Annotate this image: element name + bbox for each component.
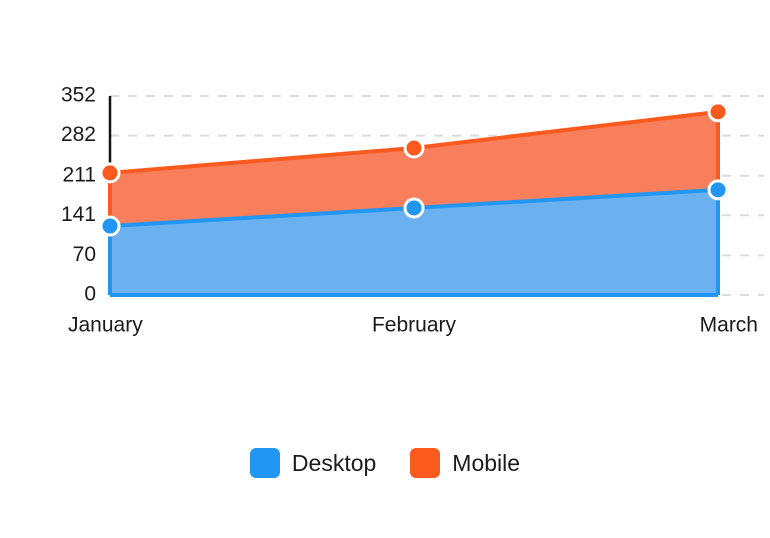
plot-area: 070141211282352 JanuaryFebruaryMarch (0, 0, 770, 430)
legend-swatch-icon (410, 448, 440, 478)
data-point-mobile-january[interactable] (101, 164, 119, 182)
legend-label: Desktop (292, 452, 376, 475)
x-tick-label: March (700, 314, 758, 337)
chart-canvas: 070141211282352 JanuaryFebruaryMarch (0, 0, 770, 430)
data-point-desktop-february[interactable] (405, 199, 423, 217)
y-tick-label: 141 (61, 203, 96, 226)
y-tick-label: 352 (61, 84, 96, 107)
data-point-mobile-march[interactable] (709, 103, 727, 121)
data-point-desktop-march[interactable] (709, 181, 727, 199)
y-tick-label: 211 (63, 163, 96, 186)
x-tick-label: January (68, 314, 143, 337)
y-axis-tick-labels: 070141211282352 (61, 84, 96, 306)
y-tick-label: 70 (73, 243, 96, 266)
legend-swatch-icon (250, 448, 280, 478)
data-point-desktop-january[interactable] (101, 217, 119, 235)
area-chart: 070141211282352 JanuaryFebruaryMarch Des… (0, 0, 770, 538)
data-point-mobile-february[interactable] (405, 139, 423, 157)
legend-item-mobile[interactable]: Mobile (410, 448, 520, 478)
y-tick-label: 0 (84, 283, 96, 306)
chart-legend: DesktopMobile (0, 448, 770, 478)
legend-label: Mobile (452, 452, 520, 475)
legend-item-desktop[interactable]: Desktop (250, 448, 376, 478)
y-tick-label: 282 (61, 123, 96, 146)
x-tick-label: February (372, 314, 457, 337)
x-axis-tick-labels: JanuaryFebruaryMarch (68, 314, 758, 337)
